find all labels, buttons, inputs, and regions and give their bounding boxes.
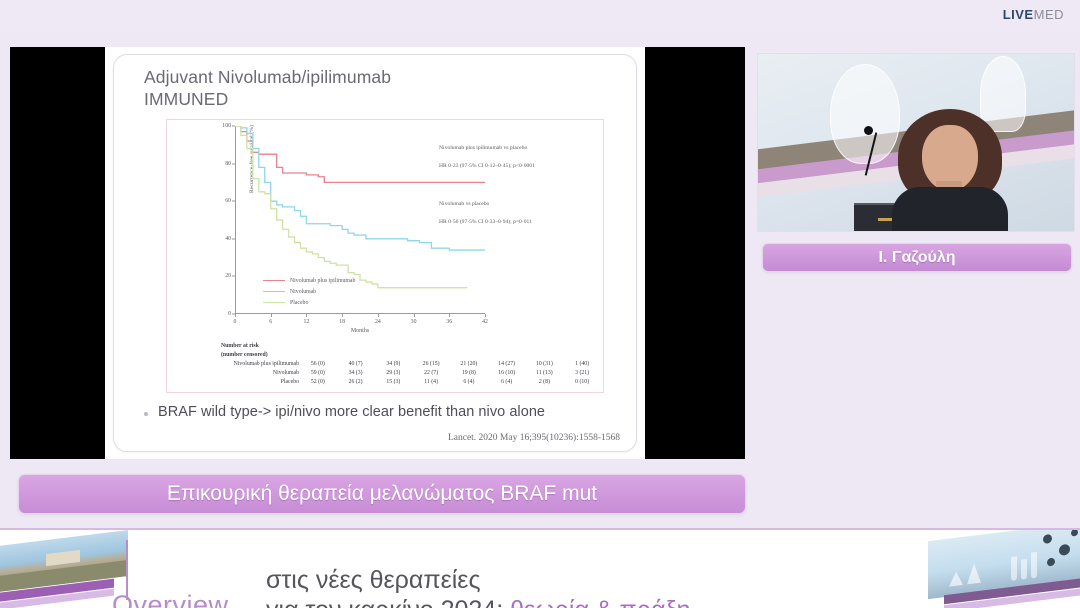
molecule-atom-3 [1047,558,1055,567]
risk-cell: 0 (10) [563,378,601,387]
speaker-name-badge: Ι. Γαζούλη [762,243,1072,272]
slide-card: Adjuvant Nivolumab/ipilimumab IMMUNED Ni… [113,54,637,452]
citation-text: Lancet. 2020 May 16;395(10236):1558-1568 [448,433,620,443]
test-tube-1 [1011,556,1017,581]
legend-label: Placebo [290,300,308,306]
risk-cell: 26 (2) [337,378,375,387]
risk-cell: 34 (3) [337,369,375,378]
risk-cell: 6 (4) [488,378,526,387]
risk-cell: 22 (7) [412,369,450,378]
footer-right-graphic [928,530,1080,608]
footer-left-graphic [0,530,128,608]
x-tick-mark [485,314,486,317]
x-tick-mark [306,314,307,317]
y-tick-mark [232,238,235,239]
risk-title: Number at risk [221,342,601,351]
logo-secondary-text: MED [1034,7,1064,22]
speaker-video[interactable] [757,53,1075,232]
legend-item: Placebo [263,297,355,308]
top-bar: LIVEMED [0,0,1080,32]
slide-surface: Adjuvant Nivolumab/ipilimumab IMMUNED Ni… [105,47,645,459]
risk-cell: 14 (27) [488,359,526,368]
x-tick-label: 0 [234,319,237,325]
survival-curve [235,126,467,288]
risk-cell: 26 (15) [412,359,450,368]
congress-footer: Overview στις νέες θεραπείες για τον καρ… [0,528,1080,608]
y-tick-mark [232,163,235,164]
x-tick-label: 18 [339,319,345,325]
risk-cell: 3 (21) [563,369,601,378]
risk-cell: 34 (9) [375,359,413,368]
legend-label: Nivolumab [290,289,316,295]
risk-cell: 52 (0) [299,378,337,387]
legend-swatch [263,291,285,293]
y-tick-label: 0 [228,311,231,317]
y-tick-label: 100 [222,123,231,129]
test-tube-2 [1021,559,1027,580]
number-at-risk-block: Number at risk (number censored) Nivolum… [177,342,601,387]
flask-icon-1 [949,571,963,587]
bullet-item: BRAF wild type-> ipi/nivo more clear ben… [144,404,545,420]
bullet-dot-icon [144,412,148,416]
y-tick-mark [232,276,235,277]
app-root: LIVEMED Adjuvant Nivolumab/ipilimumab IM… [0,0,1080,608]
risk-cell: 56 (0) [299,359,337,368]
risk-cell: 16 (10) [488,369,526,378]
risk-row: Nivolumab59 (0)34 (3)29 (3)22 (7)19 (8)1… [177,369,601,378]
risk-cell: 40 (7) [337,359,375,368]
chart-legend: Nivolumab plus ipilimumabNivolumabPlaceb… [263,275,355,308]
session-title-text: Επικουρική θεραπεία μελανώματος BRAF mut [167,482,597,506]
y-tick-mark [232,201,235,202]
risk-cell: 59 (0) [299,369,337,378]
risk-cell: 15 (3) [375,378,413,387]
x-axis-label: Months [235,328,485,334]
congress-title-line1: στις νέες θεραπείες [266,566,691,596]
x-tick-label: 12 [304,319,310,325]
risk-subtitle: (number censored) [221,351,601,360]
risk-row: Placebo52 (0)26 (2)15 (3)11 (4)6 (4)6 (4… [177,378,601,387]
risk-cell: 1 (40) [563,359,601,368]
congress-title-line2: για τον καρκίνο 2024: θεωρία & πράξη [266,596,691,608]
survival-curve [235,126,485,182]
y-tick-label: 80 [225,161,231,167]
risk-row-label: Nivolumab plus ipilimumab [177,359,299,368]
slide-stage[interactable]: Adjuvant Nivolumab/ipilimumab IMMUNED Ni… [10,47,745,459]
x-tick-mark [271,314,272,317]
risk-cell: 21 (20) [450,359,488,368]
overview-label: Overview [112,590,229,608]
y-tick-mark [232,126,235,127]
congress-title-line2-accent: θεωρία & πράξη [510,596,690,608]
risk-cell: 6 (4) [450,378,488,387]
risk-cell: 11 (13) [526,369,564,378]
legend-swatch [263,280,285,282]
x-tick-label: 24 [375,319,381,325]
x-tick-mark [449,314,450,317]
molecule-atom-2 [1059,544,1070,556]
risk-cell: 11 (4) [412,378,450,387]
microphone-head-icon [864,126,873,135]
risk-row: Nivolumab plus ipilimumab56 (0)40 (7)34 … [177,359,601,368]
survival-curve [235,126,485,250]
risk-row-label: Placebo [177,378,299,387]
x-tick-label: 6 [269,319,272,325]
x-tick-label: 30 [411,319,417,325]
molecule-atom-4 [1071,530,1078,537]
kaplan-meier-figure: Nivolumab plus ipilimumab vs placebo HR … [166,119,604,393]
livemed-logo: LIVEMED [1003,7,1064,22]
legend-label: Nivolumab plus ipilimumab [290,278,355,284]
x-tick-mark [378,314,379,317]
flask-icon-2 [967,563,981,585]
session-title-banner: Επικουρική θεραπεία μελανώματος BRAF mut [18,474,746,514]
risk-cell: 19 (8) [450,369,488,378]
slide-subtitle: IMMUNED [144,89,228,110]
plot-area: Recurrence-free survival (%) Months Nivo… [235,126,485,314]
risk-row-label: Nivolumab [177,369,299,378]
legend-item: Nivolumab plus ipilimumab [263,275,355,286]
congress-title: στις νέες θεραπείες για τον καρκίνο 2024… [266,566,691,608]
test-tube-3 [1031,552,1037,579]
risk-cell: 10 (31) [526,359,564,368]
speaker-figure [890,109,1010,232]
risk-cell: 2 (8) [526,378,564,387]
x-tick-label: 42 [482,319,488,325]
x-tick-mark [235,314,236,317]
logo-primary-text: LIVE [1003,7,1034,22]
legend-swatch [263,302,285,304]
parthenon-shape [46,550,80,566]
congress-title-line2-plain: για τον καρκίνο 2024: [266,596,510,608]
bullet-text: BRAF wild type-> ipi/nivo more clear ben… [158,404,545,420]
x-tick-mark [414,314,415,317]
y-tick-label: 20 [225,273,231,279]
speaker-name-text: Ι. Γαζούλη [878,249,955,267]
speaker-body [892,187,1008,232]
risk-table: Nivolumab plus ipilimumab56 (0)40 (7)34 … [177,359,601,387]
legend-item: Nivolumab [263,286,355,297]
y-tick-label: 40 [225,236,231,242]
molecule-atom-1 [1043,534,1052,544]
slide-title: Adjuvant Nivolumab/ipilimumab [144,66,391,90]
y-tick-label: 60 [225,198,231,204]
x-tick-mark [342,314,343,317]
risk-cell: 29 (3) [375,369,413,378]
x-tick-label: 36 [446,319,452,325]
